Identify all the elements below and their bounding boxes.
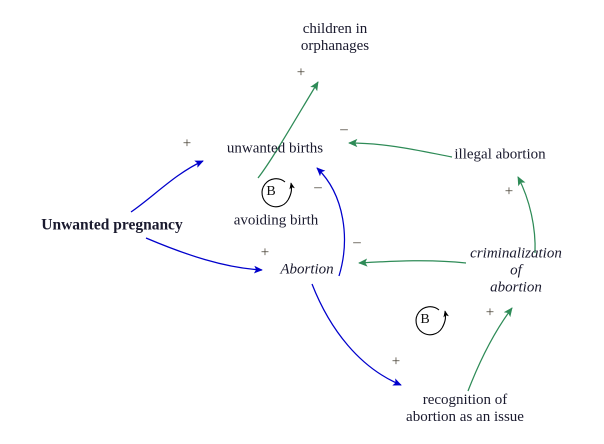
link-unwanted-births-to-children-in-orphanages bbox=[258, 82, 318, 178]
node-avoiding-birth[interactable]: avoiding birth bbox=[234, 213, 319, 230]
loop-label-balancing-criminalization: B bbox=[420, 312, 429, 328]
polarity-unwanted-pregnancy-to-abortion: + bbox=[261, 246, 269, 261]
node-unwanted-births[interactable]: unwanted births bbox=[227, 141, 323, 158]
node-children-in-orphanages[interactable]: children in orphanages bbox=[301, 21, 369, 55]
polarity-abortion-to-recognition: + bbox=[392, 355, 400, 370]
polarity-criminalization-to-illegal-abortion: + bbox=[505, 185, 513, 200]
polarity-abortion-to-unwanted-births: – bbox=[314, 181, 322, 196]
polarity-unwanted-births-to-orphanages: + bbox=[297, 66, 305, 81]
polarity-recognition-to-criminalization: + bbox=[486, 306, 494, 321]
node-abortion[interactable]: Abortion bbox=[280, 262, 333, 279]
polarity-unwanted-pregnancy-to-unwanted-births: + bbox=[183, 137, 191, 152]
loop-label-balancing-avoiding-birth: B bbox=[266, 184, 275, 200]
polarity-criminalization-to-abortion: – bbox=[353, 236, 361, 251]
node-criminalization-of-abortion[interactable]: criminalization of abortion bbox=[470, 246, 562, 297]
link-unwanted-pregnancy-to-unwanted-births bbox=[131, 161, 203, 212]
node-illegal-abortion[interactable]: illegal abortion bbox=[454, 147, 545, 164]
link-criminalization-to-abortion bbox=[359, 261, 466, 263]
link-unwanted-pregnancy-to-abortion bbox=[146, 238, 262, 270]
node-unwanted-pregnancy[interactable]: Unwanted pregnancy bbox=[41, 217, 182, 234]
link-illegal-abortion-to-unwanted-births bbox=[349, 143, 452, 157]
link-criminalization-to-illegal-abortion bbox=[518, 177, 535, 253]
causal-loop-diagram: children in orphanages unwanted births i… bbox=[0, 0, 604, 444]
polarity-illegal-abortion-to-unwanted-births: – bbox=[340, 123, 348, 138]
link-abortion-to-recognition bbox=[312, 284, 401, 385]
node-recognition-of-abortion-as-an-issue[interactable]: recognition of abortion as an issue bbox=[406, 392, 524, 426]
